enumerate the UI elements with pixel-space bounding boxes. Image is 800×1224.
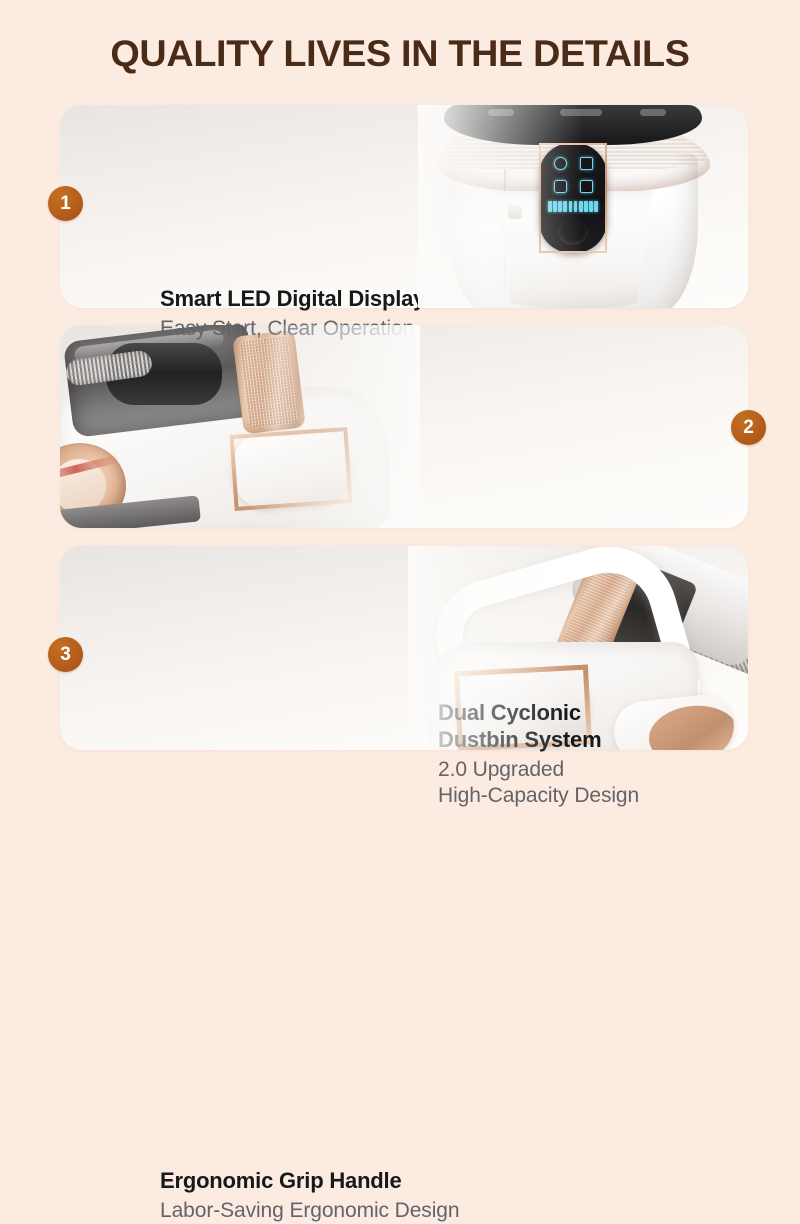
feature-badge-3: 3 <box>48 637 83 672</box>
photo-fade-overlay <box>418 105 748 308</box>
feature-card-3: Ergonomic Grip Handle Labor-Saving Ergon… <box>60 546 748 750</box>
feature-3-title: Ergonomic Grip Handle <box>160 1168 459 1195</box>
vacuum-handle-photo <box>408 546 748 750</box>
vacuum-dustbin-photo <box>60 325 420 528</box>
feature-1-title: Smart LED Digital Display <box>160 286 425 313</box>
feature-3-text: Ergonomic Grip Handle Labor-Saving Ergon… <box>160 1168 459 1224</box>
feature-badge-2: 2 <box>731 410 766 445</box>
feature-card-3-inner <box>60 546 748 750</box>
page-title: QUALITY LIVES IN THE DETAILS <box>0 33 800 75</box>
feature-card-1-inner <box>60 105 748 308</box>
vacuum-led-display-photo <box>418 105 748 308</box>
photo-fade-overlay <box>408 546 748 750</box>
feature-card-1: Smart LED Digital Display Easy Start, Cl… <box>60 105 748 308</box>
photo-fade-overlay <box>60 325 420 528</box>
feature-card-2: Dual Cyclonic Dustbin System 2.0 Upgrade… <box>60 325 748 528</box>
feature-badge-1: 1 <box>48 186 83 221</box>
feature-3-subtitle: Labor-Saving Ergonomic Design <box>160 1198 459 1224</box>
feature-card-2-inner <box>60 325 748 528</box>
feature-2-subtitle: 2.0 Upgraded High-Capacity Design <box>438 757 639 810</box>
